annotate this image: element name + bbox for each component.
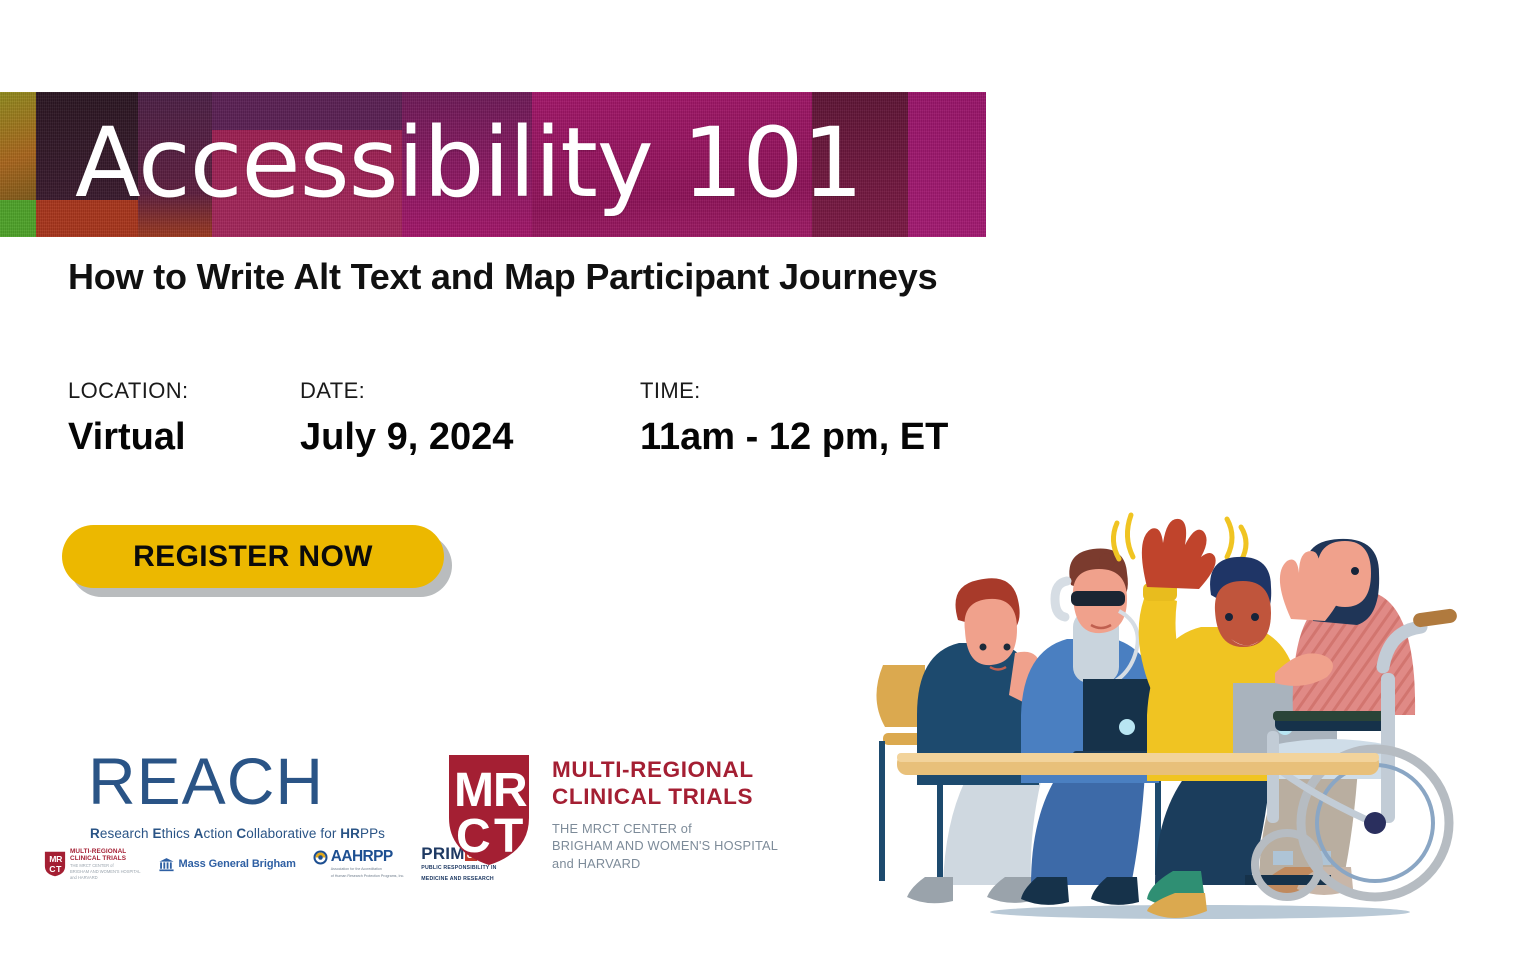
handle-grip	[1412, 608, 1458, 628]
banner-title: Accessibility 101	[75, 106, 862, 218]
mrct-sub-line2: BRIGHAM AND WOMEN'S HOSPITAL	[552, 837, 778, 854]
primr-sub2: MEDICINE AND RESEARCH	[421, 876, 496, 884]
mass-general-brigham-label: Mass General Brigham	[179, 858, 296, 870]
register-cta-wrap: REGISTER NOW	[62, 525, 452, 597]
aahrpp-sub2: of Human Research Protection Programs, I…	[331, 874, 405, 879]
svg-text:C: C	[49, 864, 56, 874]
detail-date: DATE: July 9, 2024	[300, 378, 513, 459]
detail-time-label: TIME:	[640, 378, 948, 404]
mrct-mini-line3: THE MRCT CENTER of	[70, 864, 141, 869]
mrct-mini-line5: and HARVARD	[70, 876, 141, 881]
mrct-headline-line1: MULTI-REGIONAL	[552, 756, 778, 783]
title-banner: Accessibility 101	[0, 92, 986, 237]
partner-logo-aahrpp: AAHRPP Association for the Accreditation…	[313, 849, 405, 879]
aahrpp-label: AAHRPP	[331, 849, 405, 865]
person-2-pants	[1031, 773, 1145, 885]
reach-wordmark: REACH	[88, 748, 385, 814]
detail-date-label: DATE:	[300, 378, 513, 404]
detail-location: LOCATION: Virtual	[68, 378, 189, 459]
mrct-mini-line1: MULTI-REGIONAL	[70, 848, 141, 855]
detail-location-label: LOCATION:	[68, 378, 189, 404]
aahrpp-seal-icon	[313, 850, 328, 865]
motion-lines	[1113, 515, 1133, 559]
detail-date-value: July 9, 2024	[300, 416, 513, 459]
mrct-shield-icon: M R C T	[446, 752, 532, 868]
people-at-table-illustration	[855, 415, 1525, 935]
detail-location-value: Virtual	[68, 416, 189, 459]
headphones-icon	[1055, 581, 1067, 617]
svg-text:R: R	[56, 854, 63, 864]
register-now-button[interactable]: REGISTER NOW	[62, 525, 444, 588]
reach-tagline: Research Ethics Action Collaborative for…	[90, 826, 385, 841]
waving-hand	[1142, 519, 1216, 589]
svg-text:C: C	[456, 810, 491, 863]
partner-logo-mass-general-brigham: Mass General Brigham	[158, 856, 296, 873]
reach-logo: REACH Research Ethics Action Collaborati…	[88, 748, 385, 841]
mrct-mini-line4: BRIGHAM AND WOMEN'S HOSPITAL	[70, 870, 141, 875]
face	[965, 599, 1018, 665]
mrct-headline-line2: CLINICAL TRIALS	[552, 783, 778, 810]
mrct-shield-icon: M R C T	[44, 851, 66, 877]
page-subtitle: How to Write Alt Text and Map Participan…	[68, 256, 937, 298]
mrct-logo: M R C T MULTI-REGIONAL CLINICAL TRIALS T…	[446, 752, 778, 872]
sunglasses-icon	[1071, 591, 1125, 606]
svg-text:M: M	[49, 854, 56, 864]
partner-logo-strip: M R C T MULTI-REGIONAL CLINICAL TRIALS T…	[44, 845, 497, 883]
partner-logo-mrct: M R C T MULTI-REGIONAL CLINICAL TRIALS T…	[44, 848, 141, 881]
motion-lines	[1227, 519, 1246, 561]
svg-text:T: T	[56, 864, 62, 874]
mrct-mini-line2: CLINICAL TRIALS	[70, 855, 141, 862]
wheel-hub	[1364, 812, 1386, 834]
illustration-svg	[855, 415, 1525, 935]
building-columns-icon	[158, 856, 175, 873]
shoe	[907, 877, 953, 903]
raised-signing-hand	[1280, 551, 1341, 621]
face	[1215, 581, 1271, 647]
mrct-sub-line3: and HARVARD	[552, 855, 778, 872]
aahrpp-sub1: Association for the Accreditation	[331, 867, 405, 872]
person-phone-pants	[943, 781, 1041, 885]
table	[897, 753, 1379, 775]
svg-text:T: T	[494, 810, 523, 863]
person-wheelchair	[1245, 539, 1458, 897]
mrct-sub-line1: THE MRCT CENTER of	[552, 820, 778, 837]
